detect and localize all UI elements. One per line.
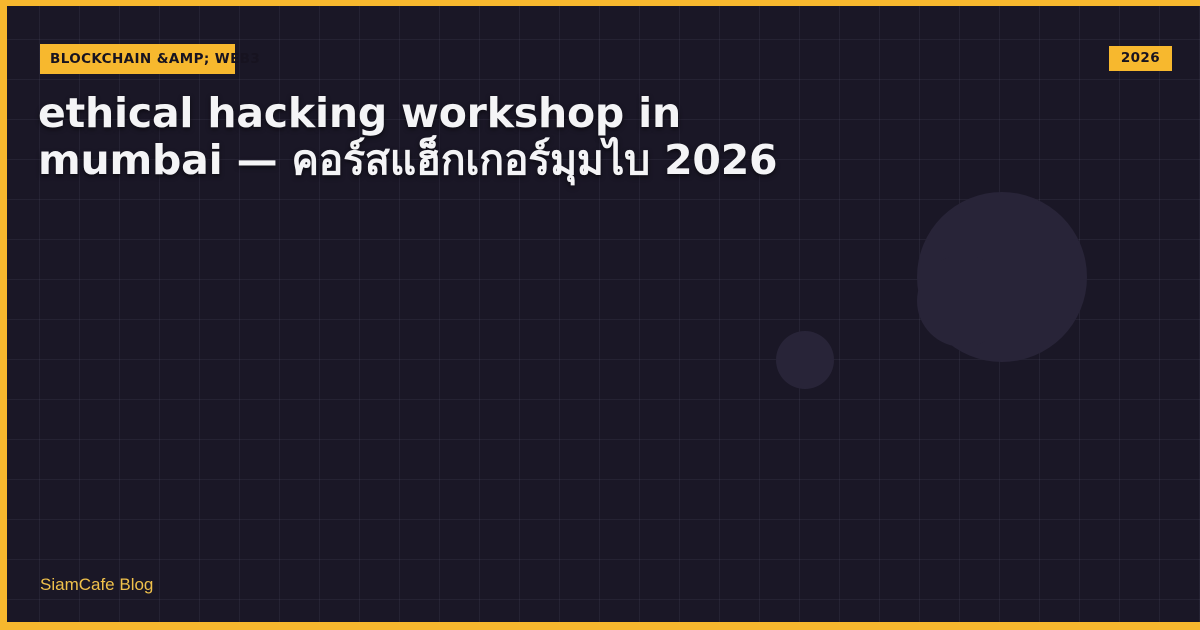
frame-border-bottom <box>0 622 1200 630</box>
page-title: ethical hacking workshop in mumbai — คอร… <box>38 90 828 184</box>
frame-border-left <box>0 0 7 630</box>
footer-brand-name: SiamCafe Blog <box>40 575 153 595</box>
category-badge: BLOCKCHAIN &AMP; WEB3 <box>40 44 235 74</box>
meta-row: BLOCKCHAIN &AMP; WEB3 2026 <box>40 44 1172 74</box>
card-content: BLOCKCHAIN &AMP; WEB3 2026 ethical hacki… <box>0 0 1200 630</box>
og-card: BLOCKCHAIN &AMP; WEB3 2026 ethical hacki… <box>0 0 1200 630</box>
category-badge-label: BLOCKCHAIN &AMP; WEB3 <box>50 44 260 74</box>
year-badge-label: 2026 <box>1121 50 1160 66</box>
year-badge: 2026 <box>1109 46 1172 71</box>
frame-border-top <box>0 0 1200 6</box>
